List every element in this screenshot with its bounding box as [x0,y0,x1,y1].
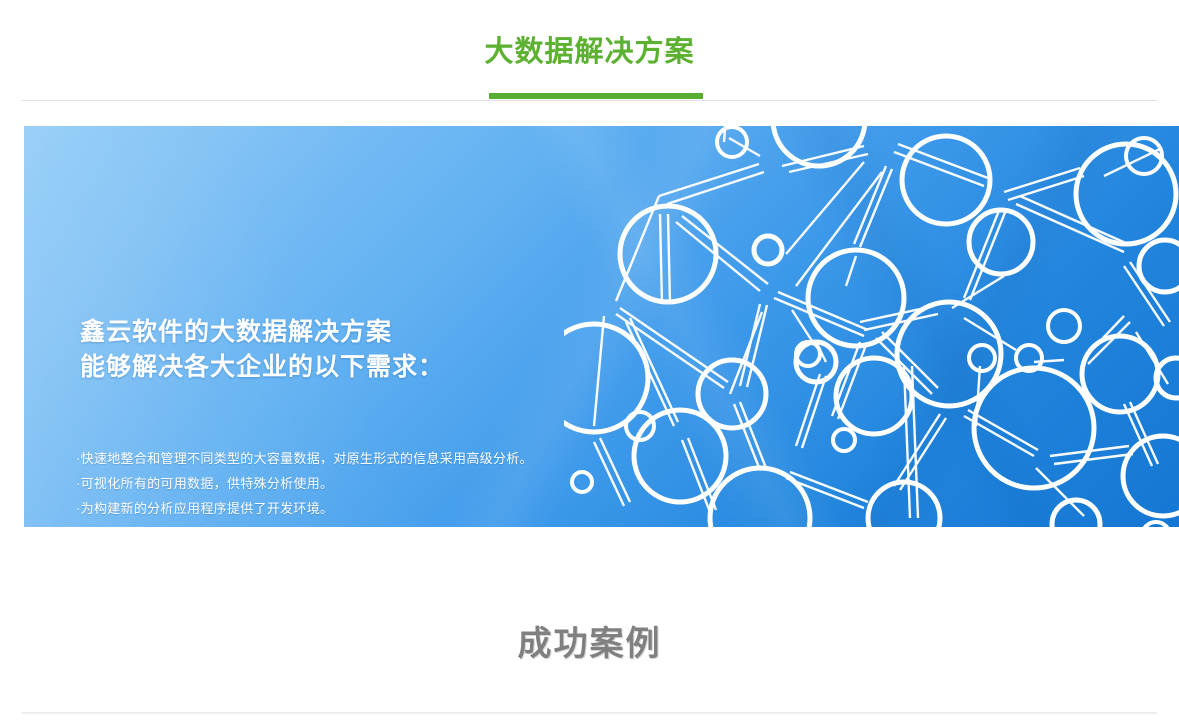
section-header: 大数据解决方案 [0,0,1179,101]
success-cases-header: 成功案例 [0,620,1179,668]
banner-heading-line-1: 鑫云软件的大数据解决方案 [80,315,720,350]
banner-heading: 鑫云软件的大数据解决方案 能够解决各大企业的以下需求： [80,315,720,385]
header-divider [22,100,1157,101]
banner-bullet-list: ·快速地整合和管理不同类型的大容量数据，对原生形式的信息采用高级分析。 ·可视化… [76,446,776,527]
title-underline-bar [489,93,703,99]
list-item: ·为构建新的分析应用程序提供了开发环境。 [76,496,776,521]
list-item: ·工作负荷的优化和调度。 [76,521,776,527]
success-cases-title: 成功案例 [0,620,1179,668]
banner-heading-line-2: 能够解决各大企业的以下需求： [80,350,720,385]
success-cases-divider [22,712,1157,714]
list-item: ·快速地整合和管理不同类型的大容量数据，对原生形式的信息采用高级分析。 [76,446,776,471]
big-data-banner: 鑫云软件的大数据解决方案 能够解决各大企业的以下需求： ·快速地整合和管理不同类… [24,126,1179,527]
page-title: 大数据解决方案 [0,32,1179,72]
list-item: ·可视化所有的可用数据，供特殊分析使用。 [76,471,776,496]
